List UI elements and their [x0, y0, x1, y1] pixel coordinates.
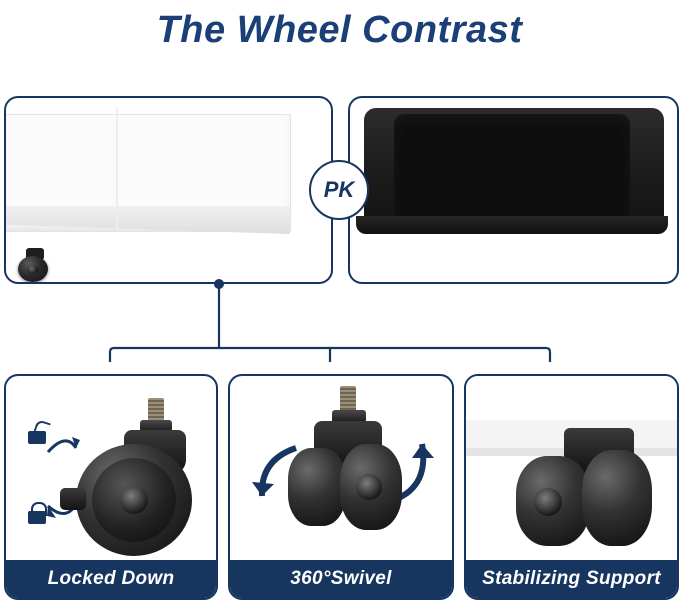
black-cabinet-base — [356, 216, 668, 234]
pk-badge: PK — [309, 160, 369, 220]
locking-caster-photo — [58, 398, 208, 558]
black-cabinet-inner-panel — [394, 114, 630, 224]
feature-card-locked-down: Locked Down — [4, 374, 218, 600]
black-cabinet-body — [364, 108, 664, 230]
black-cabinet-panel — [348, 96, 679, 284]
feature-card-swivel: 360°Swivel — [228, 374, 454, 600]
feature-card-label: 360°Swivel — [230, 560, 452, 598]
brake-lever-icon — [60, 488, 86, 510]
white-cabinet-panel — [4, 96, 333, 284]
feature-card-label: Stabilizing Support — [466, 560, 677, 598]
swivel-caster-photo — [278, 386, 418, 556]
white-cabinet-edge — [116, 108, 118, 230]
connector-node-icon — [214, 279, 224, 289]
support-caster-photo — [506, 428, 656, 558]
card-background — [464, 376, 679, 420]
page-title: The Wheel Contrast — [0, 6, 679, 54]
feature-card-stabilizing-support: Stabilizing Support — [464, 374, 679, 600]
connector-lines — [0, 276, 679, 378]
feature-card-label: Locked Down — [6, 560, 216, 598]
